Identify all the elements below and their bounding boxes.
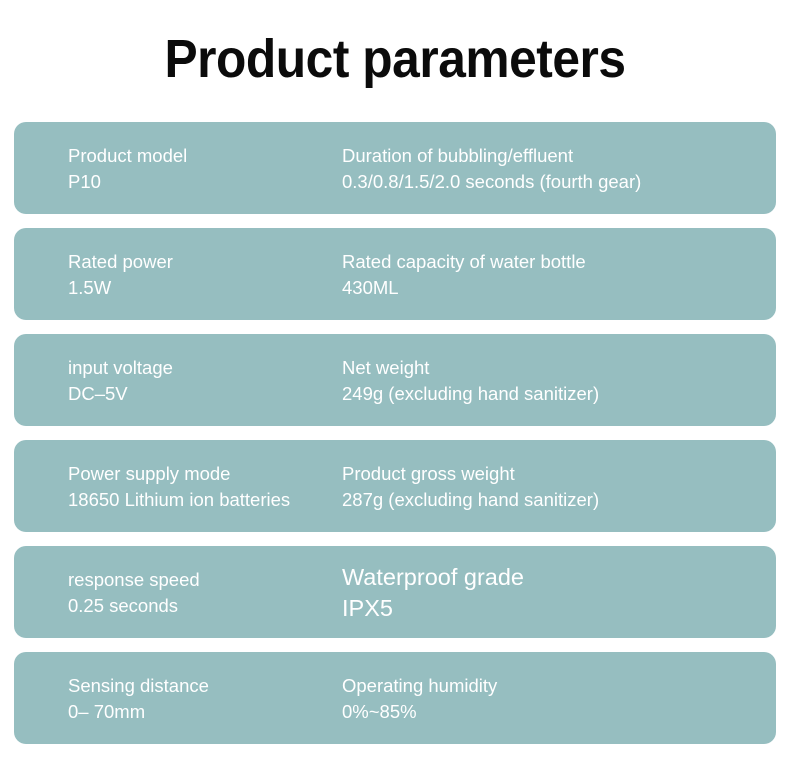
table-row: Product model P10 Duration of bubbling/e… <box>14 122 776 214</box>
spec-cell-left: Rated power 1.5W <box>14 247 338 301</box>
spec-cell-left: Power supply mode 18650 Lithium ion batt… <box>14 459 338 513</box>
table-row: Rated power 1.5W Rated capacity of water… <box>14 228 776 320</box>
spec-value: 430ML <box>342 275 766 301</box>
specification-table: Product model P10 Duration of bubbling/e… <box>14 122 776 744</box>
spec-value: 0– 70mm <box>68 699 338 725</box>
spec-value: P10 <box>68 169 338 195</box>
spec-label: Power supply mode <box>68 461 338 487</box>
spec-label: Duration of bubbling/effluent <box>342 143 766 169</box>
table-row: Sensing distance 0– 70mm Operating humid… <box>14 652 776 744</box>
spec-label: Sensing distance <box>68 673 338 699</box>
spec-value: 0.3/0.8/1.5/2.0 seconds (fourth gear) <box>342 169 766 195</box>
table-row: response speed 0.25 seconds Waterproof g… <box>14 546 776 638</box>
spec-label: Rated power <box>68 249 338 275</box>
spec-label: Rated capacity of water bottle <box>342 249 766 275</box>
spec-cell-right: Product gross weight 287g (excluding han… <box>338 459 776 513</box>
spec-label: Product model <box>68 143 338 169</box>
spec-value: 0.25 seconds <box>68 593 338 619</box>
spec-label: Waterproof grade <box>342 562 766 593</box>
table-row: input voltage DC–5V Net weight 249g (exc… <box>14 334 776 426</box>
spec-value: 249g (excluding hand sanitizer) <box>342 381 766 407</box>
product-parameters-page: Product parameters Product model P10 Dur… <box>0 0 790 763</box>
spec-value: 1.5W <box>68 275 338 301</box>
spec-value: 18650 Lithium ion batteries <box>68 487 338 513</box>
spec-cell-left: Sensing distance 0– 70mm <box>14 671 338 725</box>
spec-label: response speed <box>68 567 338 593</box>
spec-cell-left: Product model P10 <box>14 141 338 195</box>
spec-cell-left: input voltage DC–5V <box>14 353 338 407</box>
spec-value: 0%~85% <box>342 699 766 725</box>
page-title: Product parameters <box>32 28 759 90</box>
spec-label: Net weight <box>342 355 766 381</box>
spec-cell-right: Rated capacity of water bottle 430ML <box>338 247 776 301</box>
spec-label: Product gross weight <box>342 461 766 487</box>
spec-label: Operating humidity <box>342 673 766 699</box>
spec-cell-right: Duration of bubbling/effluent 0.3/0.8/1.… <box>338 141 776 195</box>
spec-cell-right: Waterproof grade IPX5 <box>338 560 776 624</box>
spec-cell-left: response speed 0.25 seconds <box>14 565 338 619</box>
spec-value: IPX5 <box>342 593 766 624</box>
spec-value: 287g (excluding hand sanitizer) <box>342 487 766 513</box>
spec-label: input voltage <box>68 355 338 381</box>
table-row: Power supply mode 18650 Lithium ion batt… <box>14 440 776 532</box>
spec-cell-right: Operating humidity 0%~85% <box>338 671 776 725</box>
spec-value: DC–5V <box>68 381 338 407</box>
spec-cell-right: Net weight 249g (excluding hand sanitize… <box>338 353 776 407</box>
